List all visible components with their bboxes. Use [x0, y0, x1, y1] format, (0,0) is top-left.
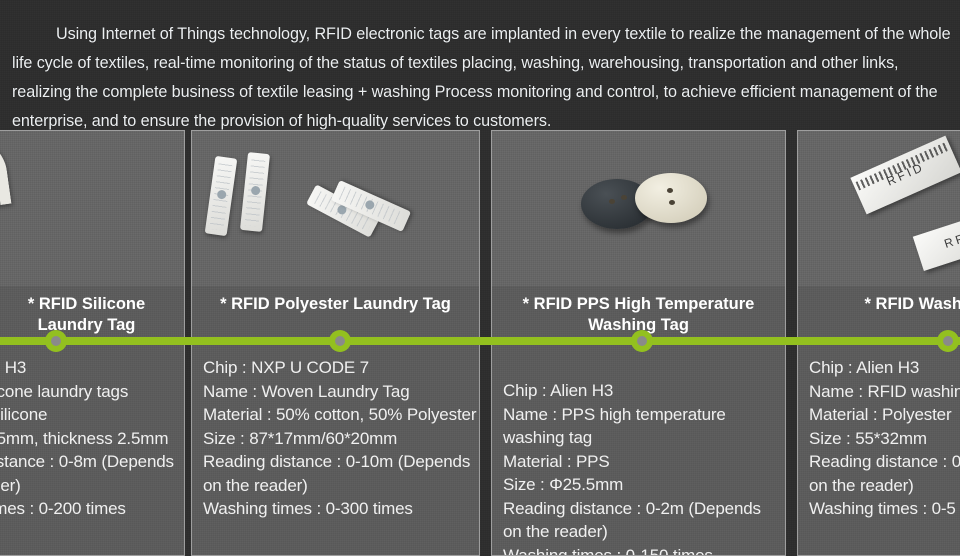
card-title: * RFID Polyester Laundry Tag	[192, 294, 479, 315]
spec-name: Name : Silicone laundry tags	[0, 380, 180, 404]
rfid-washing-tag-photo: RFID RFID	[798, 131, 960, 286]
slide-canvas: Using Internet of Things technology, RFI…	[0, 0, 960, 556]
spec-chip: Chip : Alien H3	[809, 356, 960, 380]
pps-high-temperature-washing-tag-photo	[492, 131, 785, 286]
spec-material: Material : Polyester	[809, 403, 960, 427]
silicone-laundry-tag-photo	[0, 131, 184, 286]
spec-reading-distance: Reading distance : 0-5m (Depends on the …	[809, 450, 960, 497]
timeline-node[interactable]	[631, 330, 653, 352]
intro-paragraph: Using Internet of Things technology, RFI…	[12, 20, 958, 136]
spec-washing-times: Washing times : 0-150 times	[503, 544, 781, 556]
spec-reading-distance: Reading distance : 0-10m (Depends on the…	[203, 450, 475, 497]
card-spec-list: Chip : NXP U CODE 7 Name : Woven Laundry…	[203, 356, 475, 521]
timeline-node[interactable]	[45, 330, 67, 352]
spec-size: Size : Φ25.5mm	[503, 473, 781, 497]
spec-size: Size : 87*17mm/60*20mm	[203, 427, 475, 451]
timeline-node[interactable]	[329, 330, 351, 352]
disc-hole	[609, 199, 615, 204]
card-title: * RFID Washing Tag	[798, 294, 960, 315]
spec-chip: Chip : NXP U CODE 7	[203, 356, 475, 380]
disc-hole	[667, 188, 673, 193]
card-spec-list: Chip : Alien H3 Name : RFID washing tag …	[809, 356, 960, 521]
disc-hole	[621, 195, 627, 200]
card-title: * RFID Silicone Laundry Tag	[0, 294, 184, 336]
spec-material: Material : Silicone	[0, 403, 180, 427]
spec-chip: Chip : Alien H3	[0, 356, 180, 380]
card-spec-list: Chip : Alien H3 Name : PPS high temperat…	[503, 379, 781, 556]
photo-background	[0, 131, 184, 286]
spec-name: Name : Woven Laundry Tag	[203, 380, 475, 404]
spec-material: Material : 50% cotton, 50% Polyester	[203, 403, 475, 427]
chip-dot	[217, 189, 227, 199]
spec-washing-times: Washing times : 0-300 times	[203, 497, 475, 521]
light-disc-tag-shape	[635, 173, 707, 223]
spec-reading-distance: Reading distance : 0-8m (Depends on the …	[0, 450, 180, 497]
timeline-bar	[0, 337, 960, 345]
spec-reading-distance: Reading distance : 0-2m (Depends on the …	[503, 497, 781, 544]
spec-name: Name : RFID washing tag	[809, 380, 960, 404]
spec-chip: Chip : Alien H3	[503, 379, 781, 403]
timeline-node[interactable]	[937, 330, 959, 352]
chip-dot	[364, 199, 376, 211]
spec-name: Name : PPS high temperature washing tag	[503, 403, 781, 450]
card-spec-list: Chip : Alien H3 Name : Silicone laundry …	[0, 356, 180, 521]
spec-washing-times: Washing times : 0-5 times	[809, 497, 960, 521]
spec-size: Size : 70*15mm, thickness 2.5mm	[0, 427, 180, 451]
spec-material: Material : PPS	[503, 450, 781, 474]
spec-washing-times: Washing times : 0-200 times	[0, 497, 180, 521]
polyester-laundry-tag-photo	[192, 131, 479, 286]
spec-size: Size : 55*32mm	[809, 427, 960, 451]
chip-dot	[251, 185, 261, 195]
disc-hole	[669, 200, 675, 205]
